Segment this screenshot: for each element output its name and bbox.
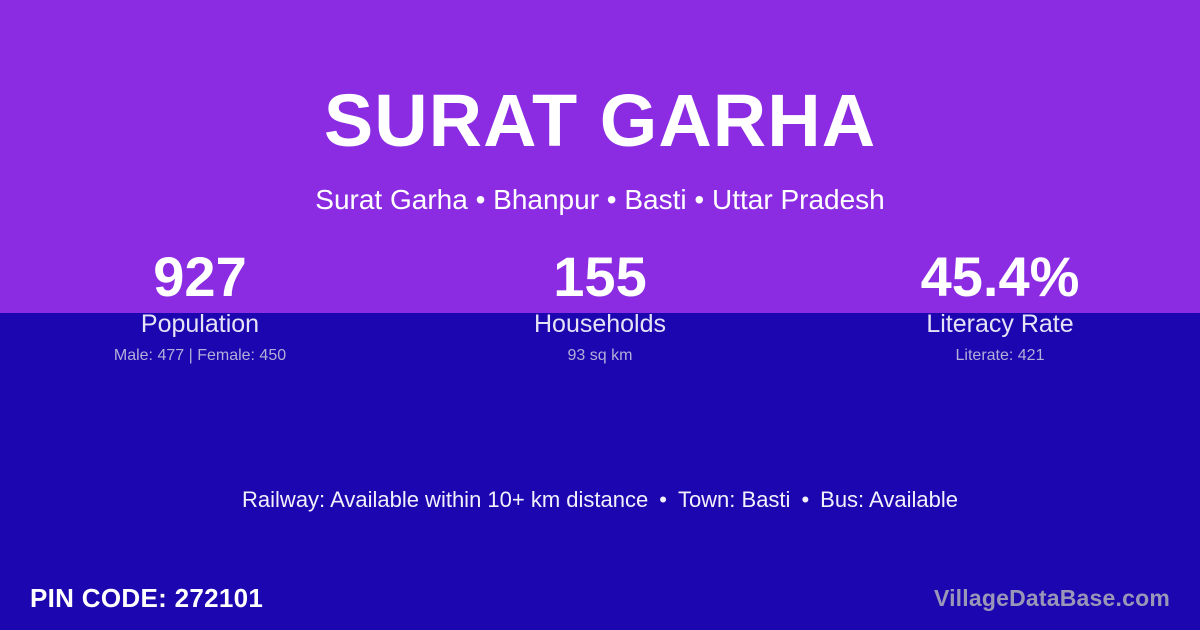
- amenity-separator-icon: •: [648, 487, 678, 513]
- stat-population-label: Population: [0, 310, 400, 339]
- amenity-separator-icon: •: [790, 487, 820, 513]
- stats-row: 927 Population Male: 477 | Female: 450 1…: [0, 248, 1200, 365]
- page-title: SURAT GARHA: [0, 84, 1200, 158]
- stat-literacy: 45.4% Literacy Rate Literate: 421: [800, 248, 1200, 365]
- stat-households-label: Households: [400, 310, 800, 339]
- stat-literacy-label: Literacy Rate: [800, 310, 1200, 339]
- stat-households-area: 93 sq km: [400, 347, 800, 365]
- stat-population-breakdown: Male: 477 | Female: 450: [0, 347, 400, 365]
- stat-literacy-value: 45.4%: [800, 248, 1200, 305]
- breadcrumb: Surat Garha • Bhanpur • Basti • Uttar Pr…: [0, 183, 1200, 217]
- site-brand: VillageDataBase.com: [934, 587, 1170, 610]
- footer: PIN CODE: 272101 VillageDataBase.com: [0, 566, 1200, 630]
- stat-literacy-count: Literate: 421: [800, 347, 1200, 365]
- village-info-card: SURAT GARHA Surat Garha • Bhanpur • Bast…: [0, 0, 1200, 630]
- stat-population: 927 Population Male: 477 | Female: 450: [0, 248, 400, 365]
- stat-households: 155 Households 93 sq km: [400, 248, 800, 365]
- pin-code: PIN CODE: 272101: [30, 585, 263, 611]
- stat-households-value: 155: [400, 248, 800, 305]
- amenities-line: Railway: Available within 10+ km distanc…: [0, 487, 1200, 513]
- stat-population-value: 927: [0, 248, 400, 305]
- amenity-railway: Railway: Available within 10+ km distanc…: [242, 487, 648, 512]
- amenity-town: Town: Basti: [678, 487, 791, 512]
- amenity-bus: Bus: Available: [820, 487, 958, 512]
